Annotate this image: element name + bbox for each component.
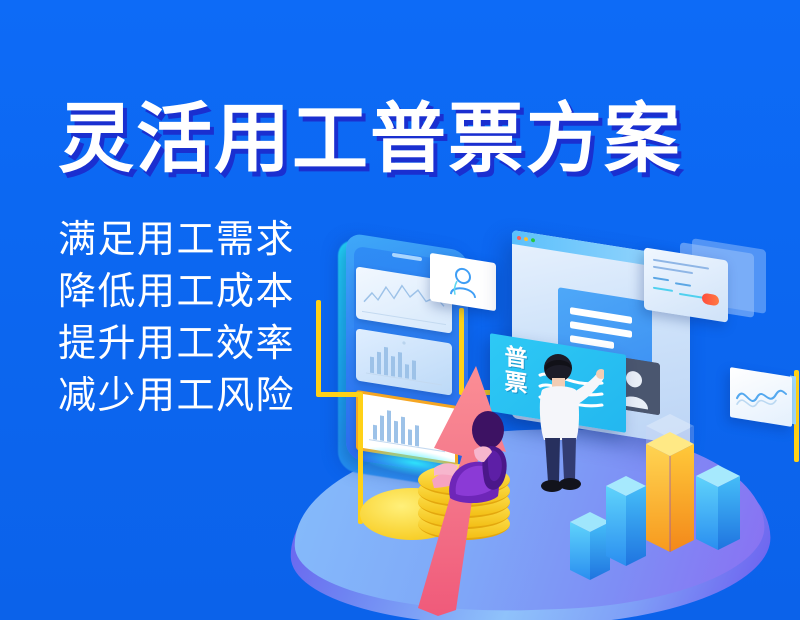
invoice-card (644, 247, 728, 322)
page-title: 灵活用工普票方案 (58, 92, 682, 188)
person-seated-woman (428, 406, 520, 516)
hero-illustration: 普票 (260, 240, 800, 620)
invoice-card-stack (640, 246, 770, 322)
browser-maximize-icon[interactable] (531, 238, 535, 243)
user-profile-card (430, 253, 496, 311)
browser-close-icon[interactable] (517, 236, 521, 241)
user-icon (451, 267, 475, 298)
promo-banner: 灵活用工普票方案 满足用工需求 降低用工成本 提升用工效率 减少用工风险 (0, 0, 800, 620)
bar-2 (606, 476, 646, 566)
bar-4 (696, 465, 740, 550)
connector-pole-2-arm (316, 392, 362, 397)
connector-pole-2 (316, 300, 321, 396)
browser-minimize-icon[interactable] (524, 237, 528, 242)
bar-1 (570, 512, 610, 580)
isometric-bar-chart (560, 400, 770, 600)
bar-3-highlight (646, 432, 694, 552)
